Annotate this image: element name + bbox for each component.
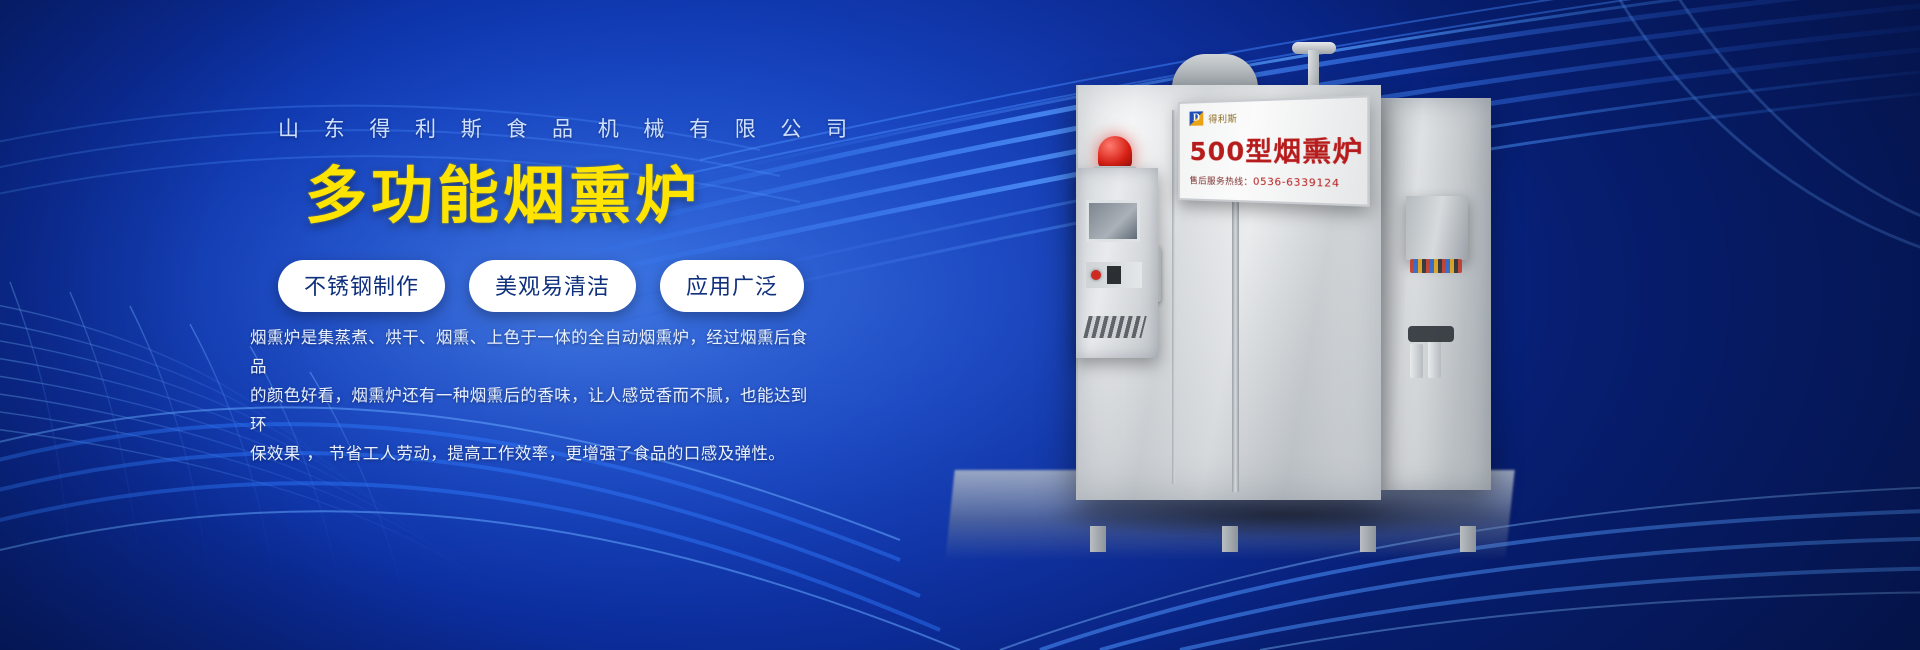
feature-pill-stainless[interactable]: 不锈钢制作 xyxy=(278,260,445,312)
valve-body-2 xyxy=(1428,338,1441,378)
control-panel-buttons[interactable] xyxy=(1086,262,1142,288)
product-model-sign: D 得利斯 500型烟熏炉 售后服务热线：0536-6339124 xyxy=(1178,95,1370,207)
description-line-2: 的颜色好看，烟熏炉还有一种烟熏后的香味，让人感觉香而不腻，也能达到环 xyxy=(250,381,810,439)
product-photo-smokehouse-oven: D 得利斯 500型烟熏炉 售后服务热线：0536-6339124 xyxy=(940,40,1540,560)
sign-brand-row: D 得利斯 xyxy=(1190,106,1355,127)
page-title: 多功能烟熏炉 xyxy=(305,163,701,228)
brand-logo-icon: D xyxy=(1190,111,1204,126)
valve-body-1 xyxy=(1410,344,1423,378)
hero-banner: 山 东 得 利 斯 食 品 机 械 有 限 公 司 多功能烟熏炉 不锈钢制作 美… xyxy=(0,0,1920,650)
junction-box xyxy=(1406,196,1468,260)
description-line-1: 烟熏炉是集蒸煮、烘干、烟熏、上色于一体的全自动烟熏炉，经过烟熏后食品 xyxy=(250,323,810,381)
emergency-stop-icon[interactable] xyxy=(1091,270,1101,280)
machine-leg xyxy=(1360,526,1376,552)
cabinet-vent xyxy=(1083,316,1146,338)
machine-leg xyxy=(1090,526,1106,552)
hotline-label: 售后服务热线： xyxy=(1190,176,1253,188)
machine-right-panel xyxy=(1381,98,1491,490)
feature-pill-easy-clean[interactable]: 美观易清洁 xyxy=(469,260,636,312)
sign-hotline: 售后服务热线：0536-6339124 xyxy=(1190,174,1355,190)
hotline-number: 0536-6339124 xyxy=(1253,176,1340,190)
description-line-3: 保效果 ， 节省工人劳动，提高工作效率，更增强了食品的口感及弹性。 xyxy=(250,439,810,468)
cable-bundle xyxy=(1410,259,1462,273)
exhaust-stack xyxy=(1172,54,1258,88)
machine-leg xyxy=(1460,526,1476,552)
door-seam-inner xyxy=(1172,110,1175,484)
valve-manifold xyxy=(1408,326,1454,342)
company-name: 山 东 得 利 斯 食 品 机 械 有 限 公 司 xyxy=(278,113,856,143)
selector-switch-icon[interactable] xyxy=(1107,266,1121,284)
feature-pill-wide-use[interactable]: 应用广泛 xyxy=(660,260,804,312)
feature-pill-group: 不锈钢制作 美观易清洁 应用广泛 xyxy=(278,260,804,312)
product-description: 烟熏炉是集蒸煮、烘干、烟熏、上色于一体的全自动烟熏炉，经过烟熏后食品 的颜色好看… xyxy=(250,323,810,468)
hero-text-column: 山 东 得 利 斯 食 品 机 械 有 限 公 司 多功能烟熏炉 不锈钢制作 美… xyxy=(0,0,860,650)
control-panel-screen[interactable] xyxy=(1086,200,1140,242)
machine-leg xyxy=(1222,526,1238,552)
alarm-beacon-icon xyxy=(1098,136,1132,168)
sign-model-title: 500型烟熏炉 xyxy=(1190,130,1355,171)
valve-assembly xyxy=(1408,326,1456,378)
brand-name: 得利斯 xyxy=(1208,111,1237,125)
